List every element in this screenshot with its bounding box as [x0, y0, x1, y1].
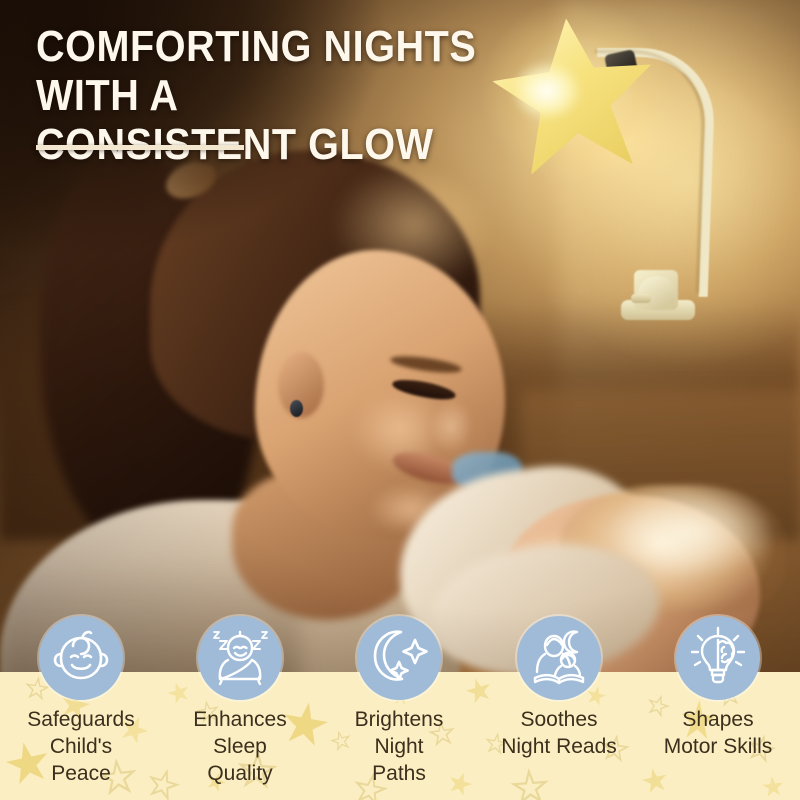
feature-label: Brightens Night Paths: [319, 706, 479, 787]
feature-label-line-2: Night: [319, 733, 479, 760]
moon-stars-icon: [357, 616, 441, 700]
lightbulb-brain-icon: [676, 616, 760, 700]
parent-reading-icon: [517, 616, 601, 700]
feature-label-line-2: Sleep: [160, 733, 320, 760]
feature-label-line-3: Quality: [160, 760, 320, 787]
feature-label-line-2: Child's: [1, 733, 161, 760]
feature-label-line-3: Paths: [319, 760, 479, 787]
headline-underline: [36, 145, 244, 150]
feature-label: Safeguards Child's Peace: [1, 706, 161, 787]
feature-label: Enhances Sleep Quality: [160, 706, 320, 787]
feature-label-line-1: Soothes: [479, 706, 639, 733]
feature-label: Shapes Motor Skills: [638, 706, 798, 760]
feature-label-line-2: Motor Skills: [638, 733, 798, 760]
feature-label-line-1: Brightens: [319, 706, 479, 733]
feature-label-line-1: Enhances: [160, 706, 320, 733]
feature-label-line-3: Peace: [1, 760, 161, 787]
feature-label: Soothes Night Reads: [479, 706, 639, 760]
sleeping-baby-icon: [198, 616, 282, 700]
feature-label-line-1: Safeguards: [1, 706, 161, 733]
product-marketing-image: COMFORTING NIGHTS WITH A CONSISTENT GLOW: [0, 0, 800, 800]
feature-label-line-2: Night Reads: [479, 733, 639, 760]
headline-line-1: COMFORTING NIGHTS WITH A: [36, 22, 476, 120]
feature-list: Safeguards Child's Peace: [0, 616, 800, 800]
baby-face-icon: [39, 616, 123, 700]
feature-label-line-1: Shapes: [638, 706, 798, 733]
